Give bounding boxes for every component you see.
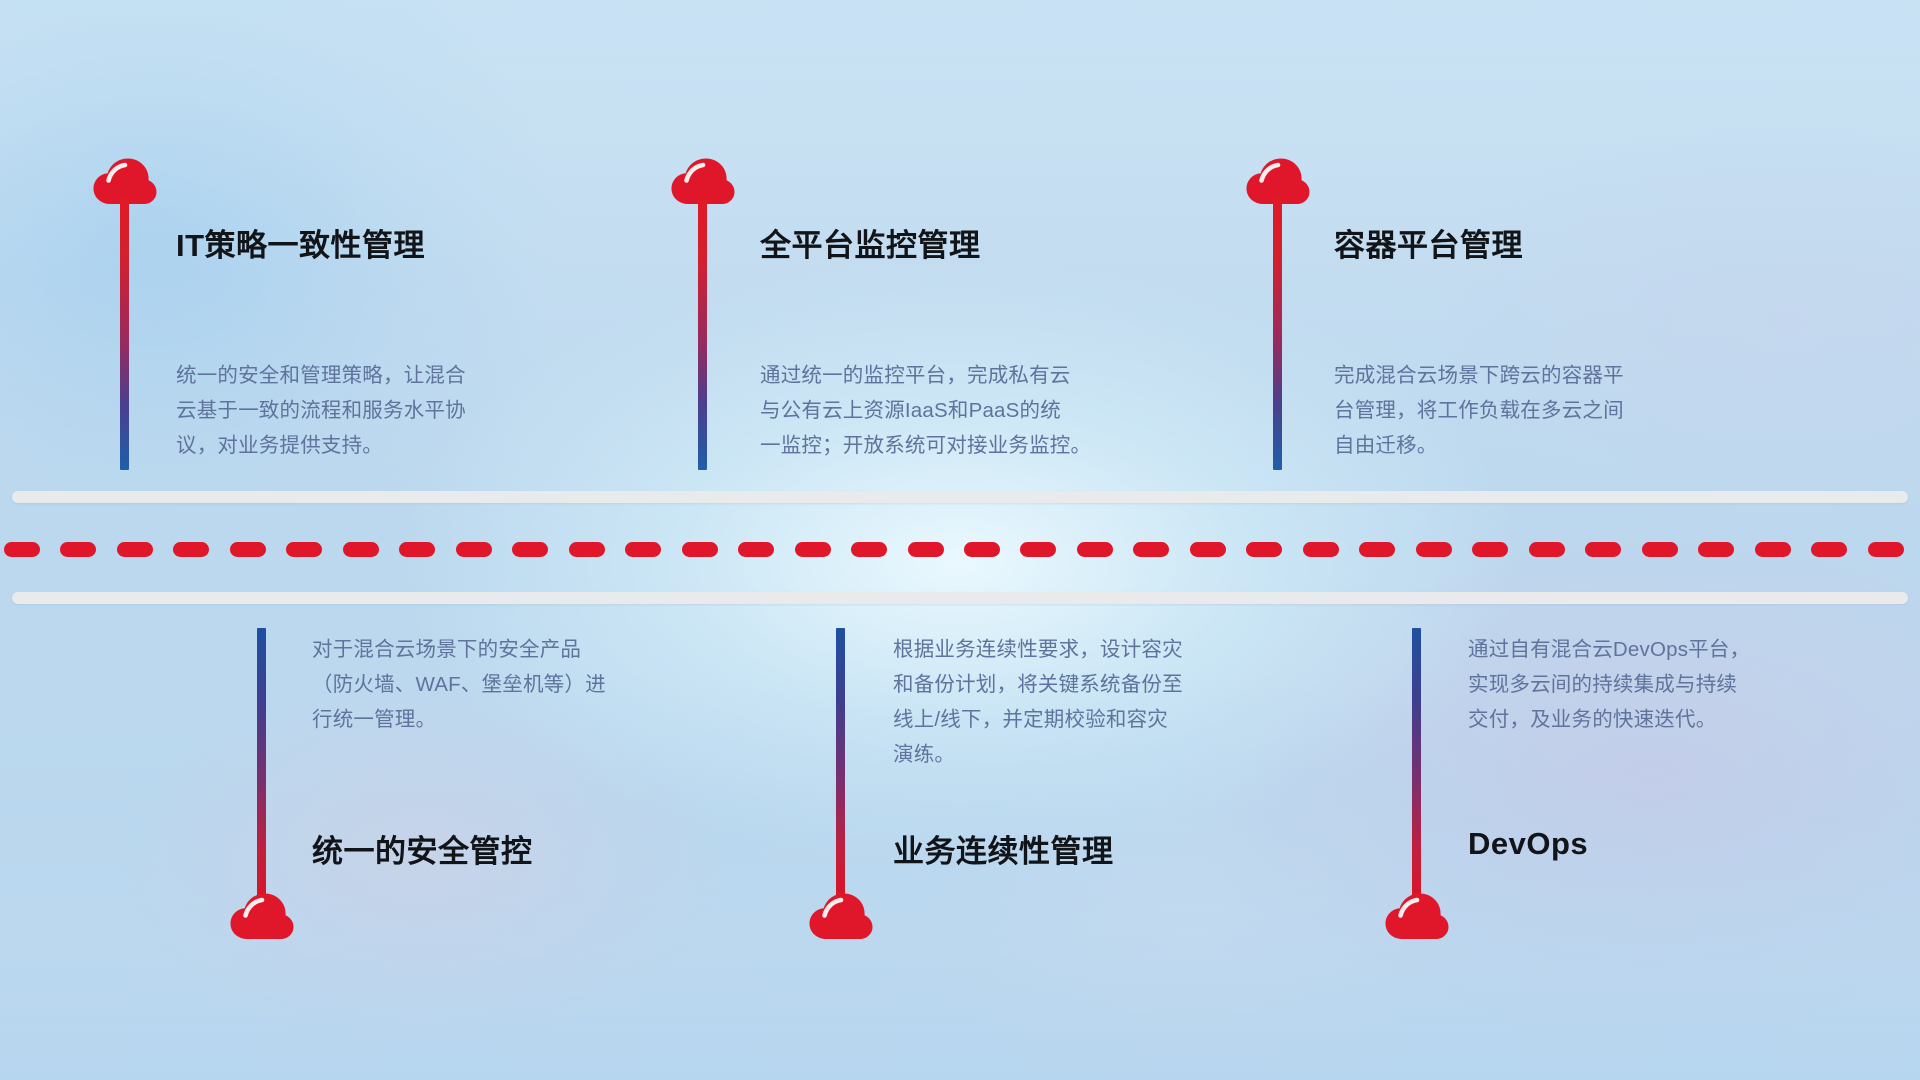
divider-dash bbox=[1585, 542, 1621, 557]
infographic-canvas: IT策略一致性管理 统一的安全和管理策略，让混合 云基于一致的流程和服务水平协 … bbox=[0, 0, 1920, 1080]
divider-dash bbox=[851, 542, 887, 557]
divider-dash bbox=[1246, 542, 1282, 557]
divider-dash bbox=[286, 542, 322, 557]
top-item-3-title: 容器平台管理 bbox=[1334, 220, 1523, 265]
divider-dash bbox=[512, 542, 548, 557]
divider-dash bbox=[1811, 542, 1847, 557]
bottom-item-1-body: 对于混合云场景下的安全产品 （防火墙、WAF、堡垒机等）进 行统一管理。 bbox=[312, 632, 742, 737]
cloud-icon bbox=[1384, 893, 1450, 941]
divider-line-top bbox=[12, 491, 1908, 503]
pin-line bbox=[257, 628, 266, 900]
pin-line bbox=[1273, 196, 1282, 470]
divider-dash bbox=[1077, 542, 1113, 557]
divider-dash bbox=[1133, 542, 1169, 557]
divider-dash bbox=[569, 542, 605, 557]
divider-dash bbox=[1755, 542, 1791, 557]
divider-dash bbox=[1416, 542, 1452, 557]
divider-dash bbox=[1020, 542, 1056, 557]
divider-dash bbox=[1472, 542, 1508, 557]
divider-dash bbox=[117, 542, 153, 557]
top-item-1-title: IT策略一致性管理 bbox=[176, 220, 425, 265]
pin-line bbox=[836, 628, 845, 900]
divider-dash bbox=[343, 542, 379, 557]
divider-dash bbox=[456, 542, 492, 557]
bottom-item-3-body: 通过自有混合云DevOps平台， 实现多云间的持续集成与持续 交付，及业务的快速… bbox=[1468, 632, 1888, 737]
divider-dash bbox=[908, 542, 944, 557]
top-item-2-body: 通过统一的监控平台，完成私有云 与公有云上资源IaaS和PaaS的统 一监控；开… bbox=[760, 358, 1200, 463]
top-item-2-title: 全平台监控管理 bbox=[760, 220, 981, 265]
divider-dash bbox=[795, 542, 831, 557]
divider-dash bbox=[1642, 542, 1678, 557]
divider-dash bbox=[1529, 542, 1565, 557]
divider-dash bbox=[230, 542, 266, 557]
divider-dash bbox=[4, 542, 40, 557]
top-item-3-body: 完成混合云场景下跨云的容器平 台管理，将工作负载在多云之间 自由迁移。 bbox=[1334, 358, 1764, 463]
divider-dash bbox=[173, 542, 209, 557]
divider-dash bbox=[1303, 542, 1339, 557]
divider-dash bbox=[1359, 542, 1395, 557]
bottom-item-2-body: 根据业务连续性要求，设计容灾 和备份计划，将关键系统备份至 线上/线下，并定期校… bbox=[893, 632, 1323, 772]
divider-dash bbox=[60, 542, 96, 557]
cloud-icon bbox=[808, 893, 874, 941]
divider-dash bbox=[738, 542, 774, 557]
pin-line bbox=[698, 196, 707, 470]
divider-dash bbox=[964, 542, 1000, 557]
divider-dash bbox=[1698, 542, 1734, 557]
divider-line-bottom bbox=[12, 592, 1908, 604]
bottom-item-3-title: DevOps bbox=[1468, 826, 1588, 862]
divider-dash bbox=[399, 542, 435, 557]
divider-dash bbox=[625, 542, 661, 557]
pin-line bbox=[1412, 628, 1421, 900]
bottom-item-2-title: 业务连续性管理 bbox=[893, 826, 1114, 871]
divider-dashed-line bbox=[0, 542, 1920, 557]
divider-dash bbox=[1190, 542, 1226, 557]
cloud-icon bbox=[229, 893, 295, 941]
divider-dash bbox=[1868, 542, 1904, 557]
pin-line bbox=[120, 196, 129, 470]
top-item-1-body: 统一的安全和管理策略，让混合 云基于一致的流程和服务水平协 议，对业务提供支持。 bbox=[176, 358, 596, 463]
divider-dash bbox=[682, 542, 718, 557]
bottom-item-1-title: 统一的安全管控 bbox=[312, 826, 533, 871]
